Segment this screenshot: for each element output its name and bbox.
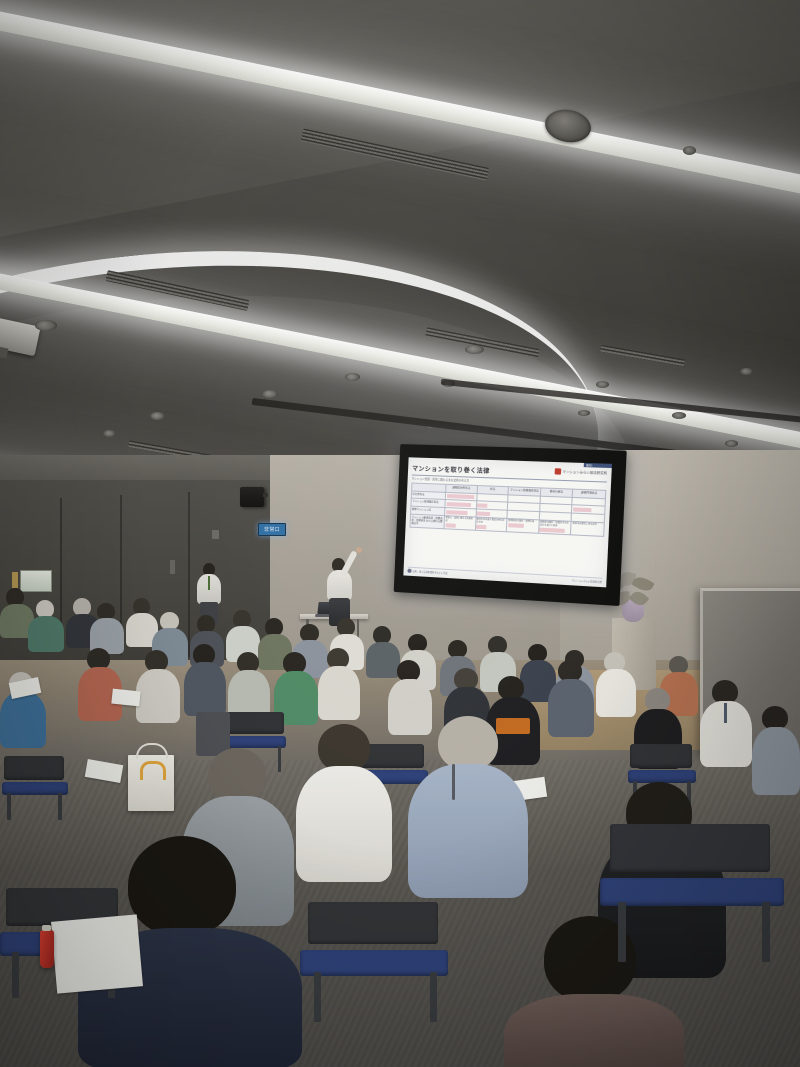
chair-back [226, 712, 284, 734]
smoke-detector-icon [465, 345, 484, 354]
chair-leg [7, 793, 11, 820]
folding-chair [0, 756, 70, 820]
audience-member [548, 660, 594, 734]
smoke-detector-icon [150, 412, 165, 420]
door-handle-plate [170, 560, 175, 574]
wall-speaker-icon [240, 487, 264, 507]
lanyard [724, 703, 727, 723]
chair-seat [300, 950, 448, 976]
chair-back [308, 902, 438, 944]
smoke-detector-icon [740, 368, 753, 375]
torso [596, 669, 636, 717]
presenter-speaker [326, 558, 362, 624]
lanyard [208, 576, 210, 590]
table-cell: 建替え・改修に関する合意形成 [444, 516, 476, 531]
audience-member [28, 600, 64, 650]
photo-scene: 非常口 資料1 マンションを取り巻く法律 マンションみらい環境研究 [0, 0, 800, 1067]
audience-member [318, 648, 360, 716]
head [128, 836, 236, 936]
smoke-detector-icon [345, 373, 360, 381]
audience-member-front [408, 716, 528, 892]
projected-slide: 資料1 マンションを取り巻く法律 マンションみらい環境研究所 マンション管理・再… [403, 457, 612, 587]
audience-member-front [296, 724, 392, 874]
chair-leg [762, 902, 770, 962]
chair-leg [58, 793, 62, 820]
smoke-detector-icon [672, 412, 686, 419]
slide-logo: マンションみらい環境研究所 [555, 468, 607, 476]
slide-table: 建物区分所有法 民法 マンション管理適正化法 都市計画法 建替円滑化法 区分所有… [409, 482, 606, 537]
audience-member [90, 603, 124, 653]
audience-member [752, 706, 800, 792]
cell-note: 除却の必要性に係る認定 [572, 523, 603, 527]
folding-chair [300, 902, 450, 1022]
torso [136, 669, 180, 723]
torso [408, 764, 528, 898]
tote-bag [128, 755, 174, 811]
table-cell: 敷地売却決議と買受計画の認定手続 [475, 517, 507, 532]
footer-org: マンションみらい環境研究所 [571, 578, 602, 584]
chair-leg [12, 952, 19, 998]
smoke-detector-icon [578, 410, 590, 416]
head [318, 724, 370, 772]
bag-logo-icon [140, 761, 166, 780]
door-handle-plate [212, 530, 219, 539]
projection-screen: 資料1 マンションを取り巻く法律 マンションみらい環境研究所 マンション管理・再… [394, 444, 627, 606]
audience-member [228, 652, 270, 720]
chair-leg [314, 972, 321, 1022]
folding-chair [600, 824, 786, 964]
smoke-detector-icon [103, 430, 116, 437]
head [208, 748, 266, 802]
chair-leg [430, 972, 437, 1022]
exit-sign: 非常口 [258, 523, 286, 536]
smoke-detector-icon [35, 320, 57, 331]
hand [356, 547, 362, 553]
logo-text: マンションみらい環境研究所 [562, 470, 607, 476]
eyeglass-cord [452, 764, 455, 800]
torso [28, 616, 64, 652]
handout-paper [51, 914, 143, 993]
smoke-detector-icon [262, 390, 278, 398]
torso [752, 727, 800, 795]
audience-member [184, 644, 226, 712]
chair-back [4, 756, 64, 780]
smoke-detector-icon [725, 440, 738, 447]
slide-footer: 出典：国土交通省資料をもとに作成 マンションみらい環境研究所 [407, 567, 602, 584]
row-label: マンション敷地売却・耐震改修・団地再生などに関わる関連法令 [410, 514, 445, 529]
torso [184, 662, 226, 716]
chair-seat [600, 878, 784, 906]
smoke-detector-icon [596, 381, 609, 388]
audience-member [136, 650, 180, 720]
logo-mark-icon [555, 468, 562, 474]
chair-seat [224, 736, 286, 748]
chair-leg [618, 902, 626, 962]
smoke-detector-icon [683, 146, 696, 155]
torso [318, 666, 360, 720]
torso [0, 692, 46, 748]
torso [327, 570, 352, 600]
table-cell: 容積率の緩和・耐震性不足の認定を受けた場合 [538, 520, 571, 535]
footer-source: 出典：国土交通省資料をもとに作成 [412, 569, 447, 575]
table-cell: 除却の必要性に係る認定 [571, 521, 605, 536]
audience-member [596, 652, 636, 714]
audience-member [78, 648, 122, 718]
table-cell: 管理組合の運営・管理計画 [506, 518, 539, 533]
slide-corner-tag: 資料1 [584, 463, 612, 468]
torso [296, 766, 392, 882]
chair-back [610, 824, 770, 872]
exit-sign-label: 非常口 [264, 526, 280, 533]
chair-back [630, 744, 692, 768]
water-bottle [40, 930, 54, 968]
handout-paper [111, 689, 140, 707]
audience-member [700, 680, 752, 764]
footer-bullet-icon [407, 569, 411, 573]
torso [548, 679, 594, 737]
head [438, 716, 498, 770]
torso [504, 994, 684, 1067]
